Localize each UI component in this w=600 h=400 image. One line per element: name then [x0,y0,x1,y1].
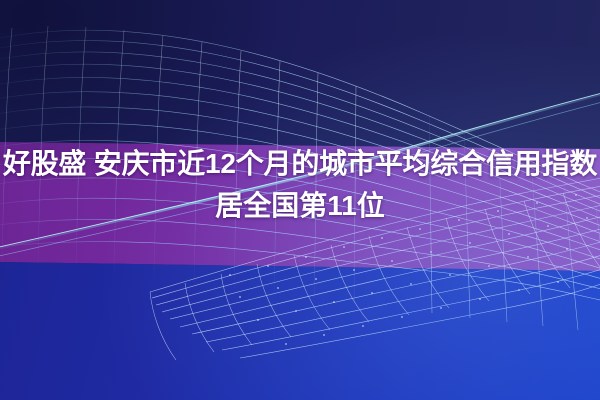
background-band-navy [0,0,600,152]
background-band-blue [0,258,600,400]
headline-text: 好股盛 安庆市近12个月的城市平均综合信用指数 居全国第11位 [0,150,600,220]
headline-line-1: 好股盛 安庆市近12个月的城市平均综合信用指数 [0,150,600,178]
banner-image: 好股盛 安庆市近12个月的城市平均综合信用指数 居全国第11位 [0,0,600,400]
headline-line-2: 居全国第11位 [0,192,600,220]
